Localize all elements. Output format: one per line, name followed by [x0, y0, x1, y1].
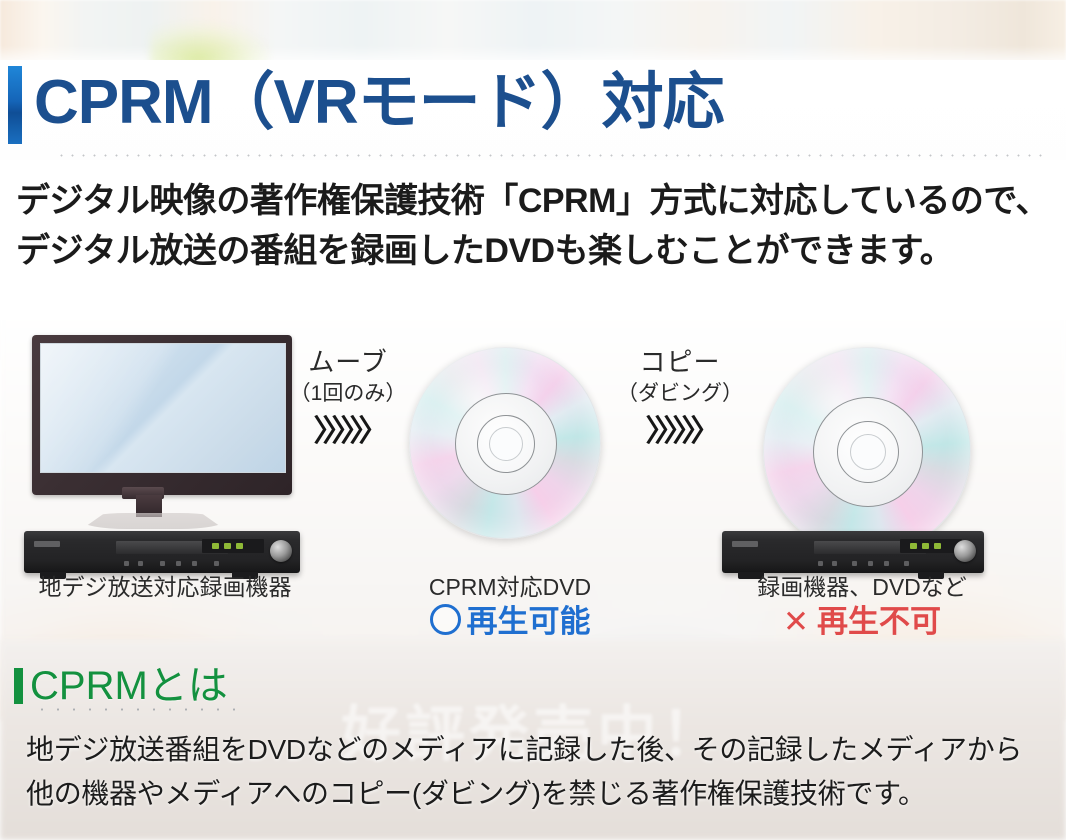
step-move: ムーブ （1回のみ） 〉〉〉〉〉〉: [268, 345, 428, 449]
step-copy-sub: （ダビング）: [600, 379, 760, 409]
tv-stand-base: [82, 513, 224, 529]
recorder-display: [900, 539, 962, 553]
lead-paragraph: デジタル映像の著作権保護技術「CPRM」方式に対応しているので、 デジタル放送の…: [16, 176, 1056, 276]
step-move-sub: （1回のみ）: [268, 379, 428, 409]
section-accent-bar: [14, 668, 23, 704]
recorder-display: [202, 539, 264, 553]
section-title: CPRMとは: [30, 662, 228, 710]
circle-ok-icon: [430, 604, 461, 635]
dvd-recorder-icon-left: [24, 531, 300, 573]
dvd-disc-right: [763, 347, 971, 555]
status-not-playable-text: 再生不可: [817, 604, 941, 639]
lead-line-1: デジタル映像の著作権保護技術「CPRM」方式に対応しているので、: [16, 176, 1056, 226]
title-accent-bar: [8, 66, 22, 144]
section-body-line-1: 地デジ放送番組をDVDなどのメディアに記録した後、その記録したメディアから: [26, 728, 1046, 772]
dvd-recorder-icon-right: [722, 531, 984, 573]
caption-disc: CPRM対応DVD 再生可能: [405, 572, 615, 642]
dvd-disc-center: [409, 347, 601, 539]
section-dotted-divider: [34, 708, 244, 711]
caption-source: 地デジ放送対応録画機器: [0, 572, 330, 602]
section-body: 地デジ放送番組をDVDなどのメディアに記録した後、その記録したメディアから 他の…: [26, 728, 1046, 816]
tv-screen-glare: [41, 344, 285, 472]
recorder-logo: [34, 541, 60, 547]
caption-disc-text: CPRM対応DVD: [405, 572, 615, 602]
recorder-jog-dial: [270, 540, 292, 562]
caption-target: 録画機器、DVDなど ✕再生不可: [742, 572, 982, 642]
status-badge-not-playable: ✕再生不可: [742, 602, 982, 642]
section-body-line-2: 他の機器やメディアへのコピー(ダビング)を禁じる著作権保護技術です。: [26, 772, 1046, 816]
poster-canvas: 好評発売中！ CPRM（VRモード）対応 デジタル映像の著作権保護技術「CPRM…: [0, 0, 1066, 840]
recorder-logo: [732, 541, 758, 547]
step-copy: コピー （ダビング） 〉〉〉〉〉〉: [600, 345, 760, 449]
disc-center-hole: [850, 434, 886, 470]
title-dotted-divider: [56, 154, 1046, 157]
caption-source-text: 地デジ放送対応録画機器: [0, 572, 330, 602]
lead-line-2: デジタル放送の番組を録画したDVDも楽しむことができます。: [16, 226, 1056, 276]
step-move-label: ムーブ: [268, 345, 428, 379]
arrow-chevrons-move: 〉〉〉〉〉〉: [268, 415, 428, 449]
source-device-group: [24, 335, 304, 585]
step-copy-label: コピー: [600, 345, 760, 379]
arrow-chevrons-copy: 〉〉〉〉〉〉: [600, 415, 760, 449]
cross-x-icon: ✕: [783, 602, 809, 642]
status-playable-text: 再生可能: [467, 604, 591, 639]
tv-screen: [40, 343, 286, 473]
recorder-jog-dial: [954, 540, 976, 562]
page-title: CPRM（VRモード）対応: [34, 62, 724, 144]
disc-center-hole: [489, 427, 523, 461]
television-icon: [32, 335, 292, 495]
status-badge-playable: 再生可能: [405, 602, 615, 642]
caption-target-text: 録画機器、DVDなど: [742, 572, 982, 602]
